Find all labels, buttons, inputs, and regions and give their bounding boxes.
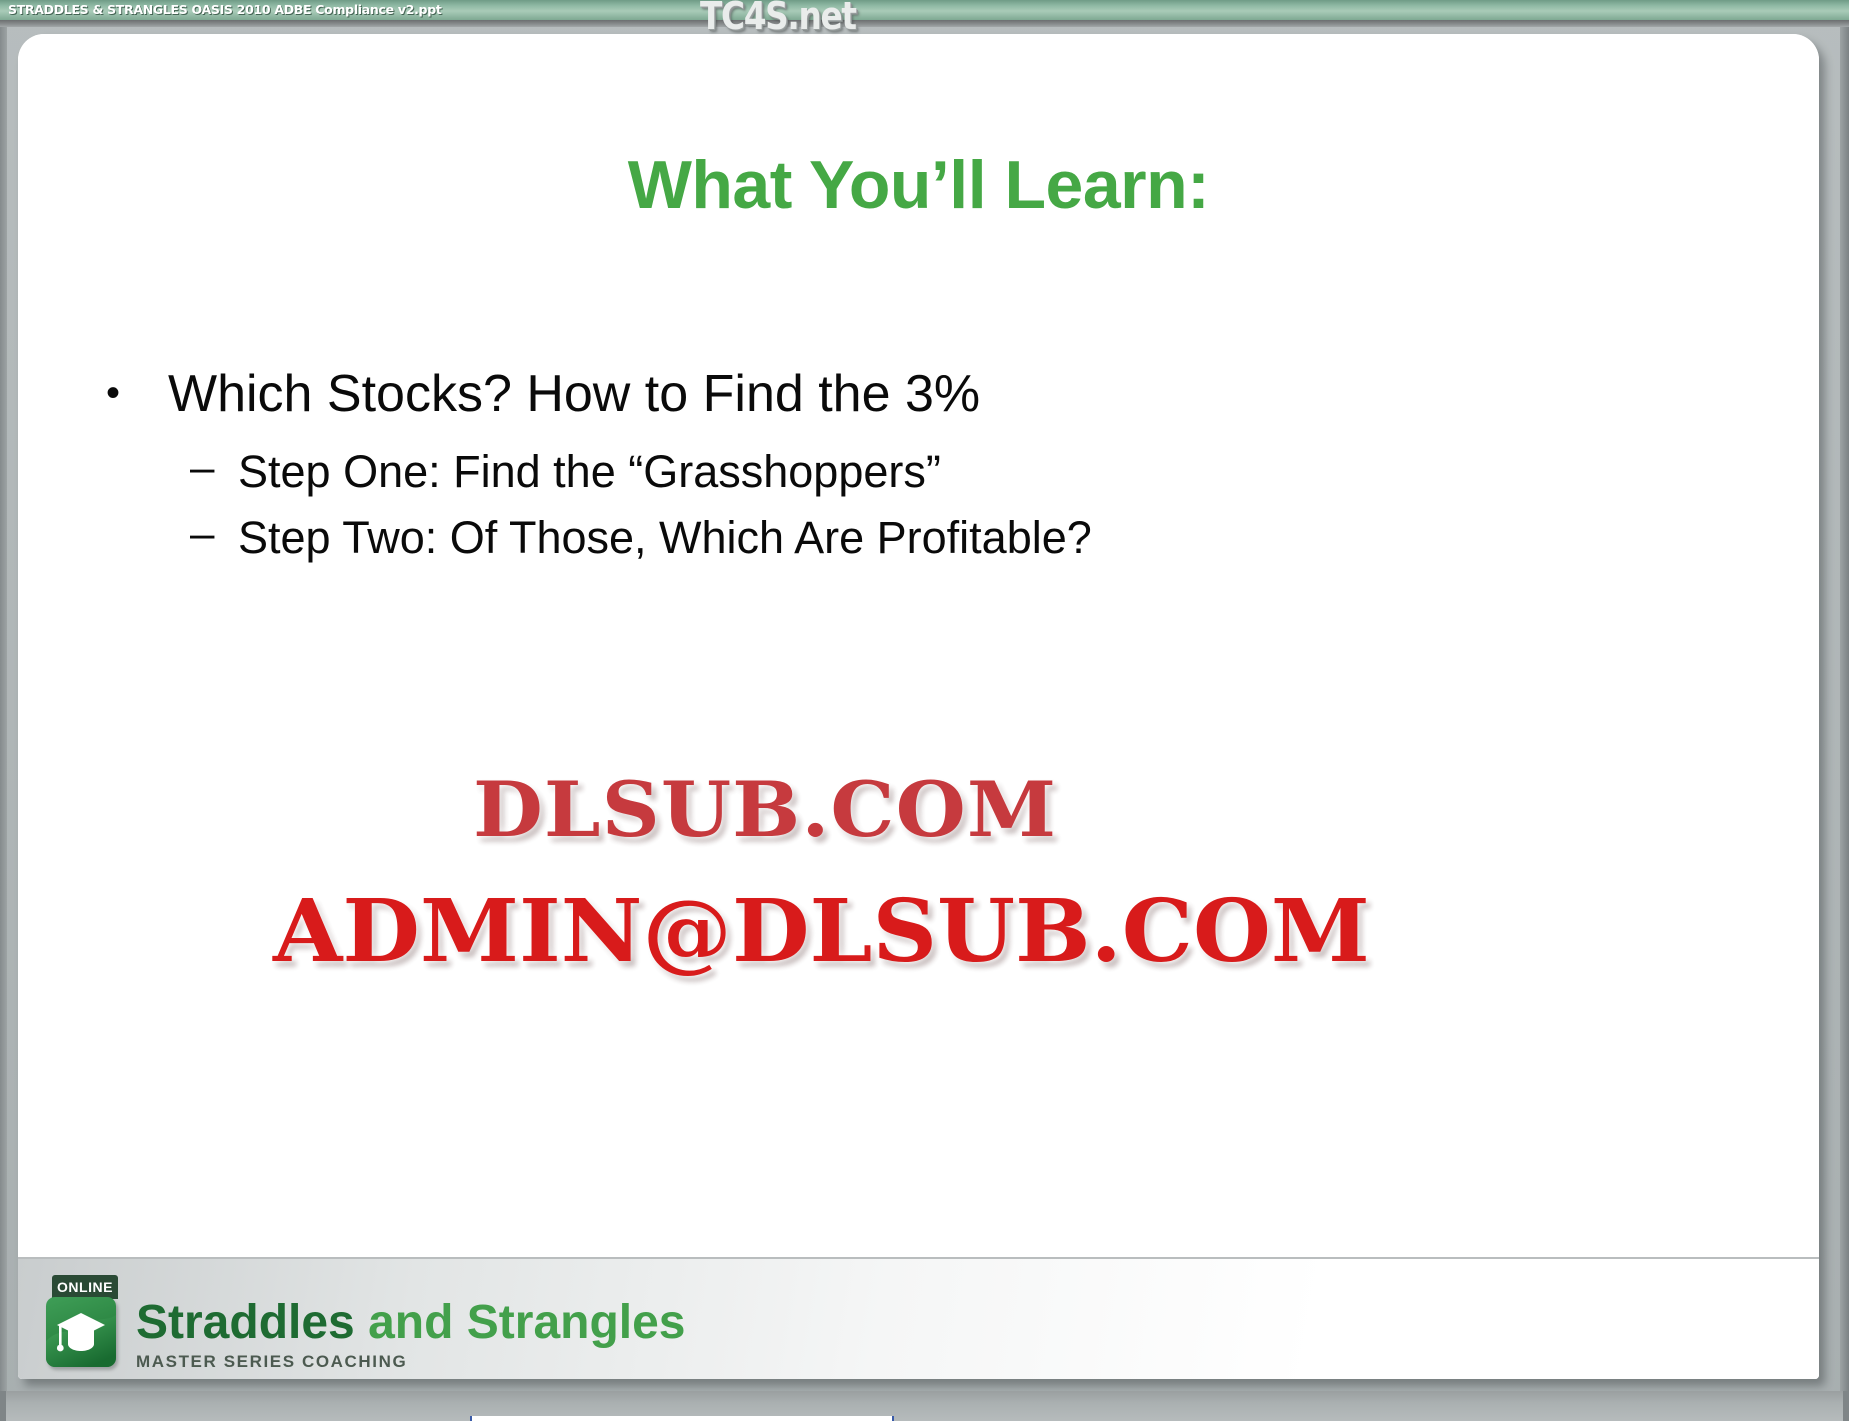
window-title-text: STRADDLES & STRANGLES OASIS 2010 ADBE Co…	[8, 2, 442, 17]
window-frame-bottom	[0, 1391, 1849, 1421]
bullet-level2-item-step-one: – Step One: Find the “Grasshoppers”	[190, 445, 1706, 499]
frame-bottom-right-corner	[1843, 1391, 1849, 1421]
slide-title: What You’ll Learn:	[18, 146, 1819, 224]
bullet-level1-item: • Which Stocks? How to Find the 3%	[106, 364, 1706, 425]
bullet-level2-item-step-two: – Step Two: Of Those, Which Are Profitab…	[190, 511, 1706, 565]
window-frame-right	[1840, 27, 1849, 1421]
bullet-level1-text: Which Stocks? How to Find the 3%	[168, 364, 980, 425]
slide-bullet-list: • Which Stocks? How to Find the 3% – Ste…	[106, 364, 1706, 577]
bullet-marker-dash: –	[190, 511, 238, 557]
taskbar-peek	[470, 1416, 894, 1421]
window-titlebar[interactable]: STRADDLES & STRANGLES OASIS 2010 ADBE Co…	[0, 0, 1849, 20]
logo-wordmark: Straddles and Strangles	[136, 1299, 686, 1347]
slide-footer-band: ONLINE	[18, 1257, 1819, 1379]
bullet-level2-text-step-two: Step Two: Of Those, Which Are Profitable…	[238, 511, 1092, 565]
bullet-marker-dot: •	[106, 364, 168, 422]
bullet-marker-dash: –	[190, 445, 238, 491]
slide-surface: What You’ll Learn: • Which Stocks? How t…	[18, 34, 1819, 1379]
straddles-and-strangles-logo: ONLINE	[46, 1275, 686, 1372]
logo-tagline: MASTER SERIES COACHING	[136, 1352, 686, 1372]
titlebar-shadow-divider	[0, 20, 1849, 27]
bullet-level2-text-step-one: Step One: Find the “Grasshoppers”	[238, 445, 941, 499]
application-window: STRADDLES & STRANGLES OASIS 2010 ADBE Co…	[0, 0, 1849, 1421]
logo-word-straddles: Straddles	[136, 1296, 355, 1349]
logo-word-and-strangles: and Strangles	[355, 1296, 686, 1349]
graduation-cap-icon	[46, 1297, 116, 1367]
logo-text-block: Straddles and Strangles MASTER SERIES CO…	[136, 1275, 686, 1372]
dlsub-site-watermark: DLSUB.COM	[473, 772, 1057, 848]
online-badge-label: ONLINE	[52, 1275, 118, 1299]
window-frame-left	[0, 27, 7, 1421]
dlsub-email-watermark: ADMIN@DLSUB.COM	[273, 889, 1370, 975]
frame-bottom-left-corner	[0, 1391, 6, 1421]
logo-badge: ONLINE	[46, 1275, 122, 1365]
slide-canvas[interactable]: What You’ll Learn: • Which Stocks? How t…	[18, 34, 1819, 1379]
